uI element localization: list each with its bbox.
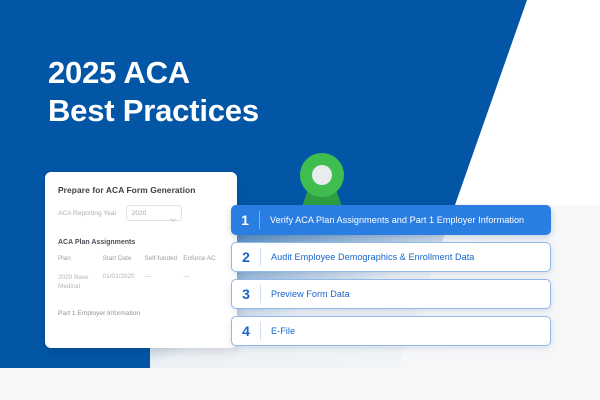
step-number: 4	[232, 323, 260, 339]
cell-plan: 2020 Base Medical	[58, 273, 103, 291]
column-header-plan: Plan	[58, 255, 103, 262]
app-preview-card: Prepare for ACA Form Generation ACA Repo…	[45, 172, 237, 348]
step-item-3[interactable]: 3 Preview Form Data	[231, 279, 551, 309]
cell-enforce-ac: —	[183, 273, 226, 291]
step-label: E-File	[261, 326, 295, 336]
column-header-enforce-ac: Enforce AC	[183, 255, 226, 262]
step-label: Audit Employee Demographics & Enrollment…	[261, 252, 474, 262]
steps-list: 1 Verify ACA Plan Assignments and Part 1…	[231, 205, 551, 353]
step-item-2[interactable]: 2 Audit Employee Demographics & Enrollme…	[231, 242, 551, 272]
column-header-start-date: Start Date	[103, 255, 145, 262]
reporting-year-row: ACA Reporting Year 2020	[58, 205, 182, 221]
plan-assignments-heading: ACA Plan Assignments	[58, 239, 135, 246]
step-item-4[interactable]: 4 E-File	[231, 316, 551, 346]
cell-start-date: 01/01/2020	[103, 273, 145, 291]
page-title-line2: Best Practices	[48, 92, 388, 130]
step-item-1[interactable]: 1 Verify ACA Plan Assignments and Part 1…	[231, 205, 551, 235]
step-number: 1	[231, 212, 259, 228]
plan-assignments-table: Plan Start Date Self-funded Enforce AC 2…	[58, 255, 226, 291]
step-number: 2	[232, 249, 260, 265]
table-header-row: Plan Start Date Self-funded Enforce AC	[58, 255, 226, 267]
page-title: 2025 ACA Best Practices	[48, 54, 388, 130]
page-title-line1: 2025 ACA	[48, 55, 190, 90]
reporting-year-select[interactable]: 2020	[126, 205, 182, 221]
step-number: 3	[232, 286, 260, 302]
table-row: 2020 Base Medical 01/01/2020 — —	[58, 267, 226, 291]
part1-employer-info-heading: Part 1 Employer Information	[58, 310, 140, 317]
cell-self-funded: —	[144, 273, 183, 291]
column-header-self-funded: Self-funded	[144, 255, 183, 262]
slide-canvas: 2025 ACA Best Practices Prepare for ACA …	[0, 0, 600, 400]
card-title: Prepare for ACA Form Generation	[58, 185, 195, 195]
step-label: Preview Form Data	[261, 289, 350, 299]
chevron-down-icon	[170, 210, 176, 216]
reporting-year-value: 2020	[132, 210, 147, 217]
reporting-year-label: ACA Reporting Year	[58, 210, 117, 217]
step-label: Verify ACA Plan Assignments and Part 1 E…	[260, 215, 524, 225]
